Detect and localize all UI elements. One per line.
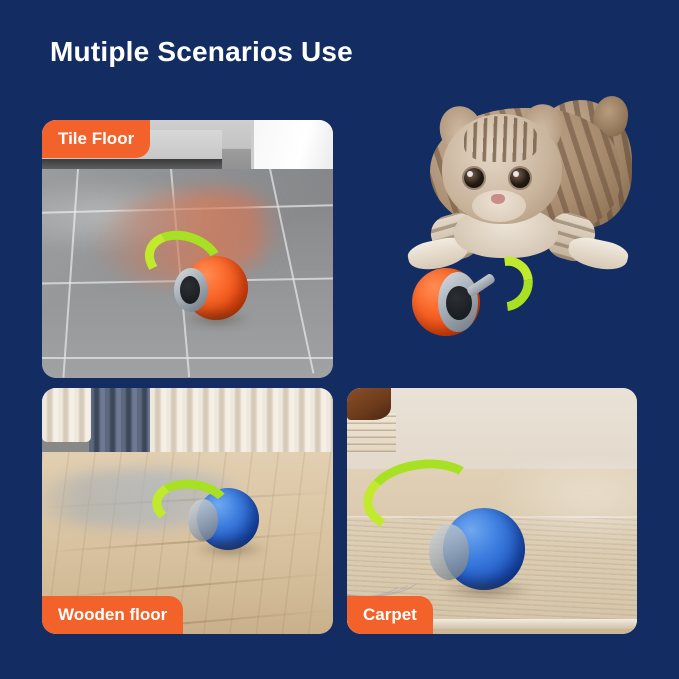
product-feature-image: Mutiple Scenarios Use [0, 0, 679, 679]
cat-paw-right [566, 234, 631, 274]
cat-nose [491, 194, 505, 204]
tile-white-unit [251, 120, 333, 172]
panel-badge-carpet: Carpet [347, 596, 433, 634]
panel-badge-wooden: Wooden floor [42, 596, 183, 634]
panel-badge-tile: Tile Floor [42, 120, 150, 158]
curtain-light [150, 388, 333, 462]
curtain-dark [89, 388, 153, 452]
cat-eye-gleam-left [467, 171, 473, 177]
toy-shadow [439, 580, 533, 600]
toy-shadow [182, 310, 252, 328]
tile-floor-scene [42, 120, 333, 378]
scenario-panel-wooden: Wooden floor [42, 388, 333, 634]
page-title: Mutiple Scenarios Use [50, 36, 353, 68]
cat-forehead-stripes [464, 116, 538, 162]
hero-toy-ball [412, 268, 480, 336]
toy-shadow [192, 540, 268, 558]
curtain-light [42, 388, 91, 442]
scenario-panel-carpet: Carpet [347, 388, 637, 634]
hero-kitten-image [372, 90, 668, 380]
toy-collar [429, 524, 469, 580]
cat-eye-gleam-right [513, 171, 519, 177]
carpet-wooden-basket [347, 388, 391, 420]
scenario-panel-tile: Tile Floor [42, 120, 333, 378]
